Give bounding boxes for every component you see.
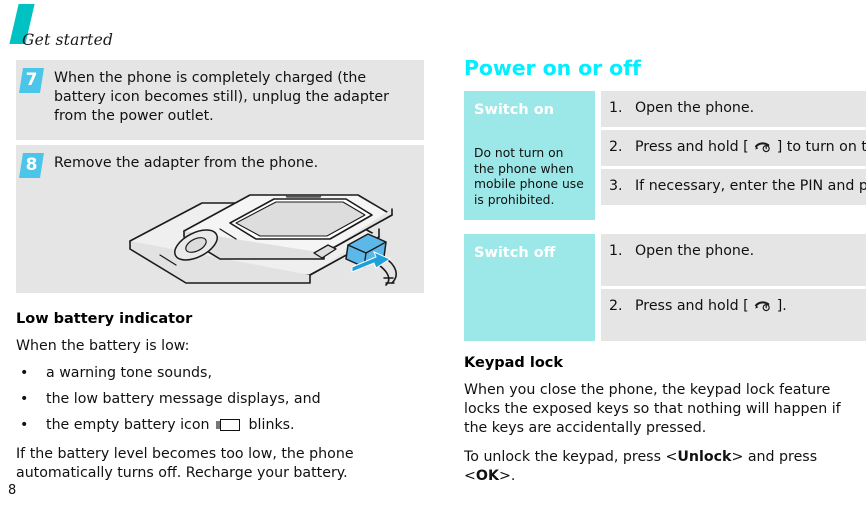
bullet-icon: • xyxy=(20,364,28,383)
softkey-unlock-label: Unlock xyxy=(677,449,731,465)
slider-phone-with-charger-illustration xyxy=(124,179,414,287)
table-row: 2.Press and hold [ ]. xyxy=(601,289,866,341)
table-row: 1.Open the phone. xyxy=(601,234,866,286)
table-row: 1.Open the phone. xyxy=(601,91,866,127)
step-body-before-key: Press and hold [ xyxy=(635,298,753,314)
keypad-lock-paragraph-1: When you close the phone, the keypad loc… xyxy=(464,381,862,438)
switch-off-label-cell: Switch off xyxy=(464,234,595,341)
step-text-8: Remove the adapter from the phone. xyxy=(54,154,414,173)
keypad-lock-heading: Keypad lock xyxy=(464,355,866,371)
unlock-text-tail: >. xyxy=(499,468,515,484)
power-end-key-icon xyxy=(754,298,771,312)
switch-off-table: Switch off 1.Open the phone. 2.Press and… xyxy=(464,234,866,341)
bullet-text-before-icon: the empty battery icon xyxy=(46,417,214,433)
step-body: If necessary, enter the PIN and press < xyxy=(635,178,866,194)
step-index: 1. xyxy=(609,242,635,261)
table-row: 2.Press and hold [ ] to turn on the phon… xyxy=(601,130,866,166)
step-number-7: 7 xyxy=(21,68,42,93)
step-box-8: 8 Remove the adapter from the phone. xyxy=(16,145,424,293)
left-column: 7 When the phone is completely charged (… xyxy=(16,60,424,483)
switch-off-label: Switch off xyxy=(474,244,587,263)
switch-off-steps-cell: 1.Open the phone. 2.Press and hold [ ]. xyxy=(595,234,866,341)
switch-on-label: Switch on xyxy=(474,101,587,120)
list-item: • the low battery message displays, and xyxy=(16,390,424,409)
page-number: 8 xyxy=(8,483,16,498)
keypad-lock-paragraph-2: To unlock the keypad, press <Unlock> and… xyxy=(464,448,862,486)
low-battery-bullet-list: • a warning tone sounds, • the low batte… xyxy=(16,364,424,435)
switch-on-steps-cell: 1.Open the phone. 2.Press and hold [ ] t… xyxy=(595,91,866,220)
bullet-icon: • xyxy=(20,416,28,435)
step-number-8: 8 xyxy=(21,153,42,178)
softkey-ok-label: OK xyxy=(476,468,499,484)
power-end-key-icon xyxy=(754,139,771,153)
step-box-7: 7 When the phone is completely charged (… xyxy=(16,60,424,140)
list-item: • the empty battery icon blinks. xyxy=(16,416,424,435)
running-header: Get started xyxy=(0,0,440,58)
step-number-badge-8: 8 xyxy=(19,153,44,178)
step-body-after-key: ]. xyxy=(772,298,787,314)
switch-on-note: Do not turn on the phone when mobile pho… xyxy=(474,146,587,208)
bullet-text: the low battery message displays, and xyxy=(46,391,321,407)
step-body-after-key: ] to turn on the phone. xyxy=(772,139,866,155)
step-index: 2. xyxy=(609,138,635,157)
step-index: 1. xyxy=(609,99,635,118)
low-battery-heading: Low battery indicator xyxy=(16,311,424,327)
step-index: 2. xyxy=(609,297,635,316)
step-body: Open the phone. xyxy=(635,100,754,116)
list-item: • a warning tone sounds, xyxy=(16,364,424,383)
bullet-icon: • xyxy=(20,390,28,409)
step-body-before-key: Press and hold [ xyxy=(635,139,753,155)
bullet-text-after-icon: blinks. xyxy=(244,417,295,433)
right-column: Power on or off Switch on Do not turn on… xyxy=(464,56,866,486)
running-header-title: Get started xyxy=(22,31,113,49)
step-number-badge-7: 7 xyxy=(19,68,44,93)
page-title: Power on or off xyxy=(464,56,866,80)
low-battery-closing-paragraph: If the battery level becomes too low, th… xyxy=(16,445,424,483)
step-text-7: When the phone is completely charged (th… xyxy=(54,69,414,126)
low-battery-intro: When the battery is low: xyxy=(16,337,424,356)
table-row: 3.If necessary, enter the PIN and press … xyxy=(601,169,866,205)
unlock-text-lead: To unlock the keypad, press < xyxy=(464,449,677,465)
step-body: Open the phone. xyxy=(635,243,754,259)
switch-on-label-cell: Switch on Do not turn on the phone when … xyxy=(464,91,595,220)
empty-battery-icon xyxy=(216,419,242,431)
bullet-text: a warning tone sounds, xyxy=(46,365,212,381)
step-index: 3. xyxy=(609,177,635,196)
switch-on-table: Switch on Do not turn on the phone when … xyxy=(464,91,866,220)
